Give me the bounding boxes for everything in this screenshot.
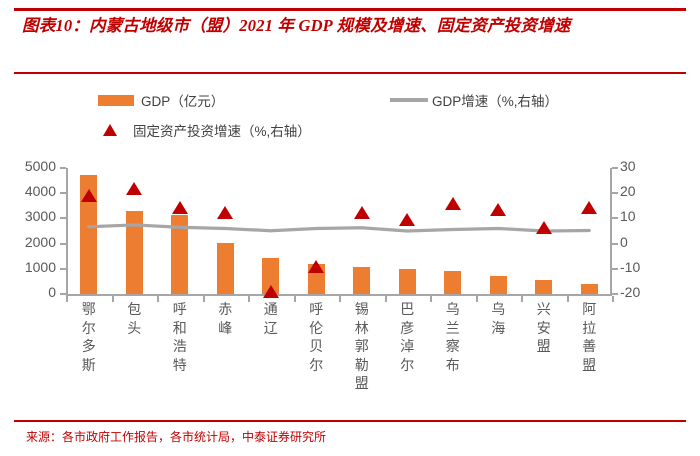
source-note: 来源：各市政府工作报告，各市统计局，中泰证券研究所 <box>26 428 666 446</box>
chart-legend: GDP（亿元） GDP增速（%,右轴） 固定资产投资增速（%,右轴） <box>0 84 700 146</box>
marker-兴安盟 <box>536 221 552 234</box>
x-label-乌兰察布: 乌兰察布 <box>438 302 468 376</box>
legend-item-gdp-growth: GDP增速（%,右轴） <box>390 90 558 110</box>
marker-巴彦淖尔 <box>399 213 415 226</box>
legend-item-fai-growth: 固定资产投资增速（%,右轴） <box>103 120 311 140</box>
figure-panel: 图表10：内蒙古地级市（盟）2021 年 GDP 规模及增速、固定资产投资增速 … <box>0 0 700 456</box>
marker-阿拉善盟 <box>581 201 597 214</box>
x-label-呼和浩特: 呼和浩特 <box>165 302 195 376</box>
bottom-divider <box>14 420 686 422</box>
marker-呼伦贝尔 <box>308 260 324 273</box>
line-swatch-icon <box>390 98 428 102</box>
x-label-巴彦淖尔: 巴彦淖尔 <box>392 302 422 376</box>
triangle-swatch-icon <box>103 124 117 136</box>
marker-包头 <box>126 182 142 195</box>
x-label-锡林郭勒盟: 锡林郭勒盟 <box>347 302 377 395</box>
title-divider <box>14 72 686 74</box>
x-axis-category-labels: 鄂尔多斯包头呼和浩特赤峰通辽呼伦贝尔锡林郭勒盟巴彦淖尔乌兰察布乌海兴安盟阿拉善盟 <box>0 302 700 417</box>
x-label-赤峰: 赤峰 <box>210 302 240 339</box>
figure-title: 图表10：内蒙古地级市（盟）2021 年 GDP 规模及增速、固定资产投资增速 <box>22 12 678 39</box>
marker-通辽 <box>263 285 279 298</box>
legend-item-gdp: GDP（亿元） <box>98 90 224 110</box>
bar-swatch-icon <box>98 95 134 106</box>
x-label-呼伦贝尔: 呼伦贝尔 <box>301 302 331 376</box>
marker-鄂尔多斯 <box>81 189 97 202</box>
x-label-鄂尔多斯: 鄂尔多斯 <box>74 302 104 376</box>
top-divider <box>14 8 686 11</box>
marker-赤峰 <box>217 206 233 219</box>
x-label-乌海: 乌海 <box>483 302 513 339</box>
marker-乌兰察布 <box>445 197 461 210</box>
legend-label-gdp-growth: GDP增速（%,右轴） <box>432 90 558 110</box>
x-label-兴安盟: 兴安盟 <box>529 302 559 358</box>
legend-label-gdp: GDP（亿元） <box>141 90 224 110</box>
x-label-通辽: 通辽 <box>256 302 286 339</box>
marker-呼和浩特 <box>172 201 188 214</box>
x-label-阿拉善盟: 阿拉善盟 <box>574 302 604 376</box>
marker-锡林郭勒盟 <box>354 206 370 219</box>
marker-乌海 <box>490 203 506 216</box>
x-label-包头: 包头 <box>119 302 149 339</box>
legend-label-fai-growth: 固定资产投资增速（%,右轴） <box>133 120 311 140</box>
